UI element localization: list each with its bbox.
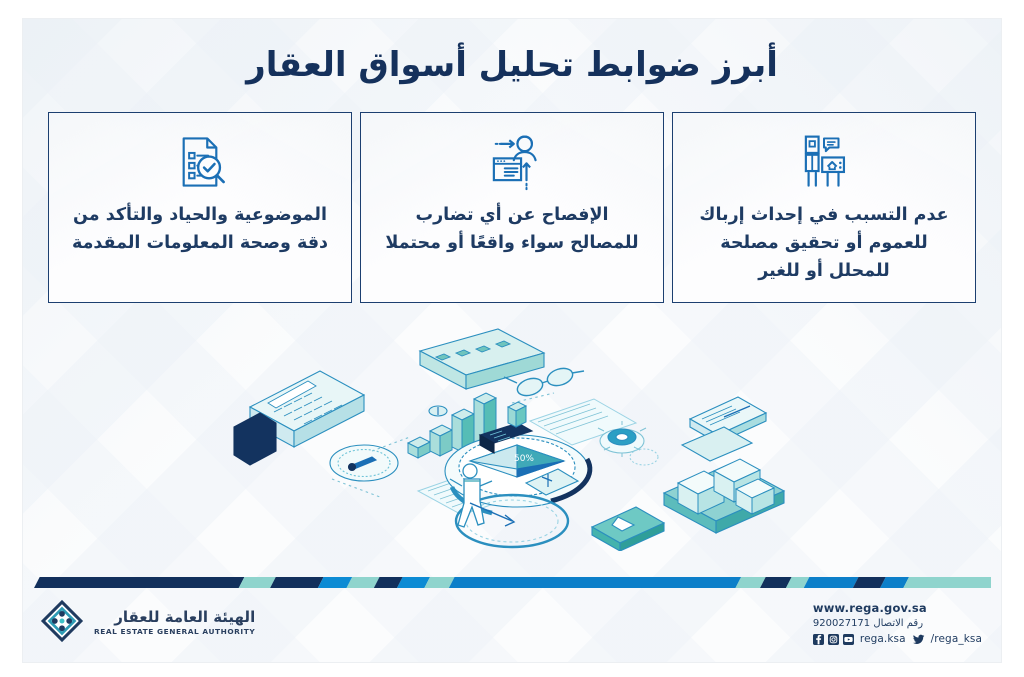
infographic-poster: أبرز ضوابط تحليل أسواق العقار (0, 0, 1024, 677)
twitter-handle: /rega_ksa (931, 633, 982, 645)
website-url[interactable]: www.rega.gov.sa (813, 601, 985, 615)
card-objectivity-text: الموضوعية والحياد والتأكد من دقة وصحة ال… (63, 201, 337, 258)
illustration-area: 50% (23, 311, 1001, 561)
phone-label: رقم الاتصال 920027171 (813, 618, 985, 629)
cards-row: الموضوعية والحياد والتأكد من دقة وصحة ال… (23, 112, 1001, 303)
logo-emblem-icon (39, 598, 85, 648)
isometric-market-analysis-illustration: 50% (212, 311, 812, 551)
page-title: أبرز ضوابط تحليل أسواق العقار (23, 45, 1001, 86)
document-checklist-magnifier-icon (171, 131, 229, 193)
presenter-board-house-icon (795, 131, 853, 193)
social-row: rega.ksa /rega_ksa (813, 633, 985, 645)
card-no-confusion: عدم التسبب في إحداث إرباك للعموم أو تحقي… (672, 112, 976, 303)
card-no-confusion-text: عدم التسبب في إحداث إرباك للعموم أو تحقي… (687, 201, 961, 286)
footer-contact: www.rega.gov.sa رقم الاتصال 920027171 re… (813, 601, 985, 645)
social-handle: rega.ksa (860, 633, 906, 645)
card-disclosure-text: الإفصاح عن أي تضارب للمصالح سواء واقعًا … (375, 201, 649, 258)
instagram-icon[interactable] (828, 634, 839, 645)
pie-label: 50% (514, 454, 534, 464)
stripe-segment (269, 577, 323, 588)
title-area: أبرز ضوابط تحليل أسواق العقار (23, 19, 1001, 86)
stripe-segment (33, 577, 244, 588)
stripe-segment (902, 577, 991, 588)
card-objectivity: الموضوعية والحياد والتأكد من دقة وصحة ال… (48, 112, 352, 303)
logo-arabic-name: الهيئة العامة للعقار (94, 609, 255, 626)
poster-panel: أبرز ضوابط تحليل أسواق العقار (22, 18, 1002, 663)
twitter-icon[interactable] (913, 634, 925, 645)
stripe-segment (448, 577, 741, 588)
logo-text: الهيئة العامة للعقار REAL ESTATE GENERAL… (94, 609, 255, 637)
stripe-segment (803, 577, 859, 588)
facebook-icon[interactable] (813, 634, 824, 645)
logo-english-name: REAL ESTATE GENERAL AUTHORITY (94, 628, 255, 637)
youtube-icon[interactable] (843, 634, 854, 645)
footer: الهيئة العامة للعقار REAL ESTATE GENERAL… (23, 590, 1001, 662)
person-browser-disclosure-icon (481, 131, 543, 193)
decorative-stripe-bar (33, 575, 991, 588)
card-disclosure: الإفصاح عن أي تضارب للمصالح سواء واقعًا … (360, 112, 664, 303)
rega-logo: الهيئة العامة للعقار REAL ESTATE GENERAL… (39, 598, 255, 648)
